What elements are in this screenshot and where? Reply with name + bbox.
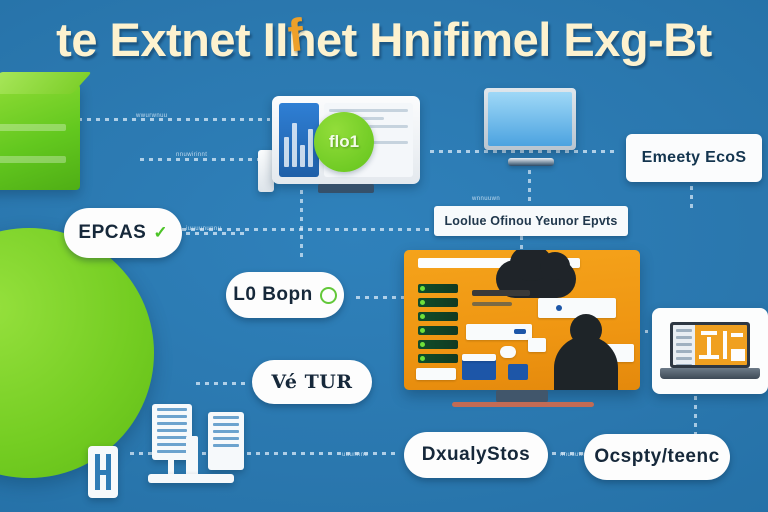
list-row-dot: [420, 314, 425, 319]
list-row-dot: [420, 286, 425, 291]
laptop-glyph-5: [731, 333, 743, 337]
label-lo-bopn[interactable]: L0 Bopn: [226, 272, 344, 318]
laptop-glyph-6: [731, 349, 745, 361]
label-banner-text: Loolue Ofinou Yeunor Epvts: [444, 214, 617, 228]
tv-base: [508, 158, 554, 166]
dashboard-panel-small: [528, 338, 546, 352]
laptop-glyph-4: [723, 331, 727, 359]
micro-caption-2: iuuuununnu: [186, 226, 221, 232]
green-status-badge[interactable]: flo1: [314, 112, 374, 172]
list-footer-field: [416, 368, 456, 380]
dashboard-heading: [472, 290, 530, 296]
list-row-dot: [420, 342, 425, 347]
page-title-bar: te Extnet IInet Hnifimel Exg-Bt f: [0, 8, 768, 70]
green-play-circle[interactable]: [0, 228, 154, 478]
connector-v-laptop: [694, 396, 697, 436]
connector-epcas-out: [186, 232, 246, 235]
green-badge-label: flo1: [329, 132, 359, 152]
connector-mid-top: [140, 158, 270, 161]
label-ve-tur[interactable]: Vé TUR: [252, 360, 372, 404]
label-ocsptyteenc-text: Ocspty/teenc: [594, 446, 719, 468]
laptop-screen-content: [673, 325, 747, 365]
dashboard-card-small[interactable]: [508, 364, 528, 380]
dashboard-panel-right-top: [538, 298, 616, 318]
laptop-keyboard: [660, 368, 760, 379]
green-server-box[interactable]: [0, 84, 80, 190]
laptop-screen: [670, 322, 750, 368]
list-row-dot: [420, 356, 425, 361]
green-server-slot-2: [0, 156, 66, 163]
chart-bar-4: [308, 129, 313, 167]
micro-caption-1: nnuwirinnt: [176, 152, 207, 158]
panel-mid-chip: [514, 329, 526, 334]
infographic-canvas: te Extnet IInet Hnifimel Exg-Bt f nnuwir…: [0, 0, 768, 512]
micro-caption-5: uuunnnu: [342, 452, 368, 458]
label-epcas-text: EPCAS: [78, 222, 146, 244]
panel-indicator-dot: [556, 305, 562, 311]
label-dxualystos[interactable]: DxualyStos: [404, 432, 548, 478]
connector-v-emeety: [690, 186, 693, 212]
laptop-glyph-1: [701, 331, 717, 335]
connector-v-white-monitor: [300, 190, 303, 260]
label-dxualystos-text: DxualyStos: [422, 444, 530, 466]
server-rack-right[interactable]: [208, 412, 244, 470]
label-lo-bopn-text: L0 Bopn: [233, 284, 313, 306]
connector-top-right: [430, 150, 618, 153]
white-monitor[interactable]: flo1: [272, 96, 420, 184]
micro-caption-3: wwurwnuu: [136, 113, 168, 119]
orange-dashboard-monitor[interactable]: [404, 250, 640, 390]
h-marker-icon[interactable]: [88, 446, 118, 498]
dashboard-dot-field: [500, 346, 516, 358]
monitor-chart-panel: [279, 103, 319, 177]
green-server-slot-1: [0, 124, 66, 131]
chart-bar-2: [292, 123, 297, 167]
server-rack-base: [148, 474, 234, 483]
page-title-text: te Extnet IInet Hnifimel Exg-Bt: [56, 13, 712, 66]
list-row-dot: [420, 328, 425, 333]
blue-tv-display[interactable]: [484, 88, 576, 150]
page-title: te Extnet IInet Hnifimel Exg-Bt f: [56, 12, 712, 67]
laptop-sidebar: [673, 325, 695, 365]
list-row-dot: [420, 300, 425, 305]
label-emeety-ecos-text: Emeety EcoS: [642, 149, 747, 167]
label-emeety-ecos[interactable]: Emeety EcoS: [626, 134, 762, 182]
connector-vetur-out: [196, 382, 248, 385]
laptop-card[interactable]: [652, 308, 768, 394]
dashboard-subheading: [472, 302, 512, 306]
chart-bar-3: [300, 145, 305, 167]
label-ocsptyteenc[interactable]: Ocspty/teenc: [584, 434, 730, 480]
orange-monitor-stand: [496, 390, 548, 402]
check-green-icon: ✓: [153, 223, 167, 243]
label-epcas[interactable]: EPCAS ✓: [64, 208, 182, 258]
dashboard-card-strip: [462, 354, 496, 361]
tv-screen: [488, 92, 572, 146]
server-rack-stem-mid: [186, 436, 198, 476]
orange-monitor-base: [452, 402, 594, 407]
micro-caption-6: wnnuuwn: [472, 196, 500, 202]
label-banner[interactable]: Loolue Ofinou Yeunor Epvts: [434, 206, 628, 236]
white-monitor-stand: [318, 184, 374, 193]
chart-bar-1: [284, 137, 289, 167]
laptop-glyph-3: [699, 355, 719, 359]
ring-green-icon: [320, 287, 337, 304]
label-ve-tur-text: Vé TUR: [271, 371, 352, 393]
connector-v-tv: [528, 170, 531, 204]
